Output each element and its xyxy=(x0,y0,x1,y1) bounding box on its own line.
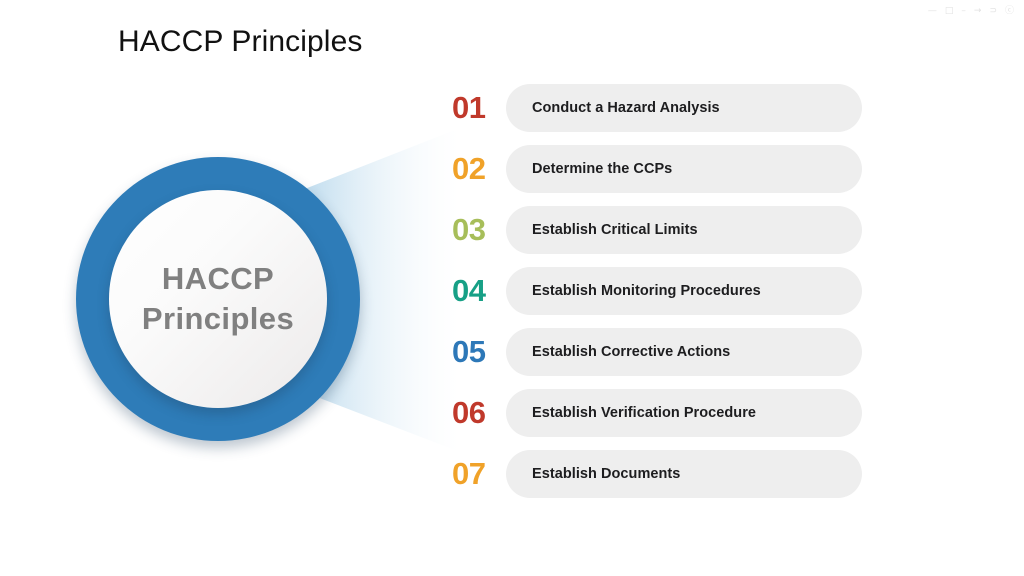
step-label: Establish Corrective Actions xyxy=(532,343,730,361)
hub-label: HACCP Principles xyxy=(142,259,294,339)
step-pill[interactable]: Establish Critical Limits xyxy=(506,206,862,254)
watermark-glyph-4: → xyxy=(974,7,982,16)
step-pill[interactable]: Establish Corrective Actions xyxy=(506,328,862,376)
step-number: 04 xyxy=(452,267,506,315)
step-pill[interactable]: Establish Documents xyxy=(506,450,862,498)
step-row[interactable]: 01Conduct a Hazard Analysis xyxy=(452,84,862,132)
step-label: Establish Critical Limits xyxy=(532,221,698,239)
page-title: HACCP Principles xyxy=(118,22,362,62)
step-label: Establish Documents xyxy=(532,465,680,483)
step-number: 01 xyxy=(452,84,506,132)
hub-circle: HACCP Principles xyxy=(76,157,360,441)
step-pill[interactable]: Determine the CCPs xyxy=(506,145,862,193)
step-row[interactable]: 07Establish Documents xyxy=(452,450,862,498)
step-row[interactable]: 04Establish Monitoring Procedures xyxy=(452,267,862,315)
step-number: 07 xyxy=(452,450,506,498)
step-label: Establish Monitoring Procedures xyxy=(532,282,761,300)
step-label: Conduct a Hazard Analysis xyxy=(532,99,720,117)
step-number: 02 xyxy=(452,145,506,193)
step-number: 03 xyxy=(452,206,506,254)
watermark-glyph-2: □ xyxy=(945,7,954,16)
step-row[interactable]: 06Establish Verification Procedure xyxy=(452,389,862,437)
step-number: 05 xyxy=(452,328,506,376)
slide-canvas: —□–→⊃ⓒ HACCP Principles HACCP Principles… xyxy=(0,0,1024,576)
step-row[interactable]: 05Establish Corrective Actions xyxy=(452,328,862,376)
step-row[interactable]: 02Determine the CCPs xyxy=(452,145,862,193)
step-label: Determine the CCPs xyxy=(532,160,672,178)
step-label: Establish Verification Procedure xyxy=(532,404,756,422)
steps-list: 01Conduct a Hazard Analysis02Determine t… xyxy=(452,84,862,524)
step-pill[interactable]: Conduct a Hazard Analysis xyxy=(506,84,862,132)
watermark-glyph-1: — xyxy=(928,7,937,16)
watermark-glyph-strip: —□–→⊃ⓒ xyxy=(928,7,1014,16)
watermark-glyph-5: ⊃ xyxy=(989,7,997,16)
step-row[interactable]: 03Establish Critical Limits xyxy=(452,206,862,254)
step-pill[interactable]: Establish Verification Procedure xyxy=(506,389,862,437)
watermark-glyph-6: ⓒ xyxy=(1005,7,1014,16)
step-pill[interactable]: Establish Monitoring Procedures xyxy=(506,267,862,315)
watermark-glyph-3: – xyxy=(961,7,966,16)
step-number: 06 xyxy=(452,389,506,437)
hub-inner-disc: HACCP Principles xyxy=(109,190,327,408)
